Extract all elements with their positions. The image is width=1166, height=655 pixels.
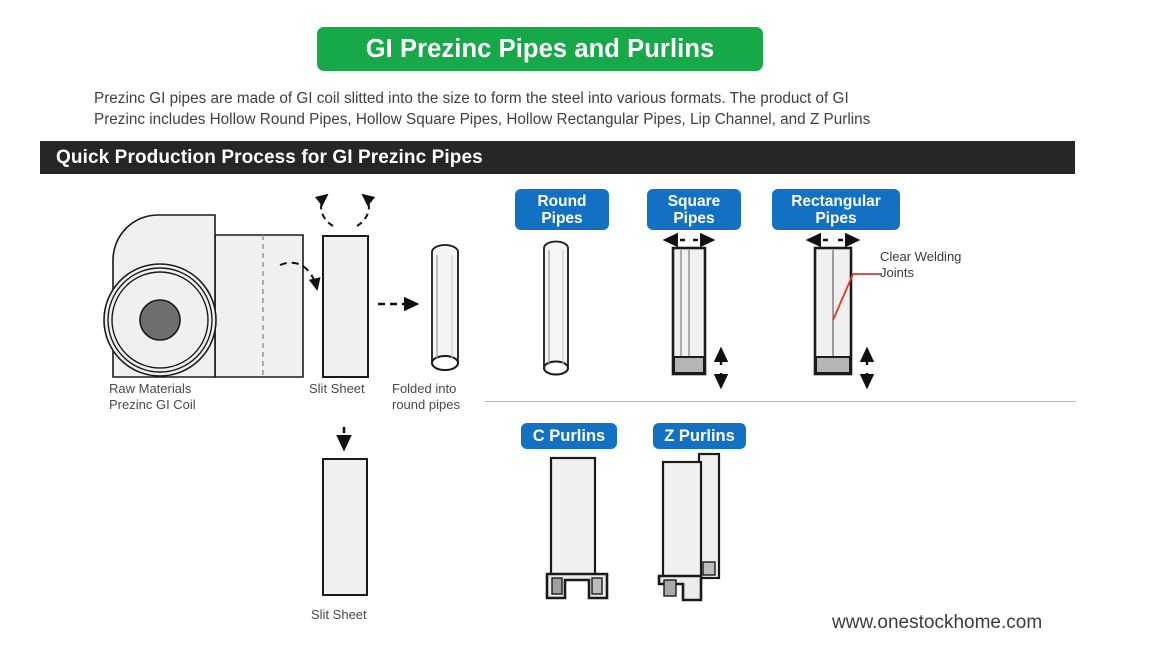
- badge-rectangular-pipes-line-1: Rectangular: [791, 193, 881, 210]
- c-purlin-lip-right: [592, 578, 602, 594]
- badge-round-pipes-line-1: Round: [537, 193, 586, 210]
- badge-round-pipes-line-2: Pipes: [541, 210, 582, 227]
- caption-folded-line-2: round pipes: [392, 397, 460, 413]
- c-purlin-shape: [525, 452, 645, 602]
- slit-sheet-bottom-shape: [323, 459, 367, 595]
- badge-c-purlins-label: C Purlins: [533, 428, 605, 445]
- round-pipe-opening: [432, 356, 458, 370]
- c-purlin-web: [551, 458, 595, 576]
- website-footer[interactable]: www.onestockhome.com: [832, 612, 1042, 634]
- caption-slit-sheet-top: Slit Sheet: [309, 381, 365, 397]
- badge-z-purlins-label: Z Purlins: [664, 428, 735, 445]
- badge-round-pipes[interactable]: Round Pipes: [515, 189, 609, 230]
- round-pipe-sample-opening: [544, 362, 568, 375]
- caption-raw-materials: Raw Materials Prezinc GI Coil: [109, 381, 196, 413]
- caption-raw-materials-line-1: Raw Materials: [109, 381, 196, 397]
- section-header-bar: Quick Production Process for GI Prezinc …: [40, 141, 1075, 174]
- square-pipe-sample: [655, 232, 770, 390]
- caption-slit-sheet-top-text: Slit Sheet: [309, 381, 365, 397]
- round-pipe-sample-body: [544, 242, 568, 375]
- clear-welding-joints-callout: Clear Welding Joints: [880, 249, 961, 281]
- caption-folded-round-pipes: Folded into round pipes: [392, 381, 460, 413]
- badge-square-pipes-line-1: Square: [668, 193, 721, 210]
- weld-callout-line-2: Joints: [880, 265, 961, 281]
- round-pipe-sample: [530, 236, 600, 386]
- badge-square-pipes-line-2: Pipes: [673, 210, 714, 227]
- z-purlin-web: [663, 462, 701, 580]
- caption-folded-line-1: Folded into: [392, 381, 460, 397]
- slit-sheet-top-shape: [323, 236, 368, 377]
- z-purlin-shape: [655, 450, 775, 605]
- production-flow-diagram: [95, 185, 495, 400]
- page-title: GI Prezinc Pipes and Purlins: [366, 35, 715, 64]
- rect-pipe-end-cap: [816, 357, 850, 373]
- arrow-form-right: [357, 195, 369, 226]
- round-pipe-body: [432, 245, 458, 370]
- title-banner: GI Prezinc Pipes and Purlins: [317, 27, 763, 71]
- intro-line-1: Prezinc GI pipes are made of GI coil sli…: [94, 88, 1084, 109]
- coil-sheet-extension: [215, 235, 303, 377]
- badge-square-pipes[interactable]: Square Pipes: [647, 189, 741, 230]
- badge-rectangular-pipes-line-2: Pipes: [815, 210, 856, 227]
- intro-line-2: Prezinc includes Hollow Round Pipes, Hol…: [94, 109, 1084, 130]
- intro-paragraph: Prezinc GI pipes are made of GI coil sli…: [94, 88, 1084, 130]
- c-purlin-lip-left: [552, 578, 562, 594]
- caption-slit-sheet-bottom: Slit Sheet: [311, 607, 367, 623]
- caption-raw-materials-line-2: Prezinc GI Coil: [109, 397, 196, 413]
- coil-hub: [140, 300, 180, 340]
- badge-c-purlins[interactable]: C Purlins: [521, 423, 617, 449]
- z-purlin-lip-bottom: [664, 580, 676, 596]
- badge-z-purlins[interactable]: Z Purlins: [653, 423, 746, 449]
- slit-sheet-bottom-diagram: [300, 425, 400, 600]
- infographic-canvas: GI Prezinc Pipes and Purlins Prezinc GI …: [0, 0, 1166, 655]
- section-divider: [485, 401, 1076, 402]
- z-purlin-lip-top: [703, 562, 715, 575]
- caption-slit-sheet-bottom-text: Slit Sheet: [311, 607, 367, 623]
- weld-callout-line-1: Clear Welding: [880, 249, 961, 265]
- section-heading: Quick Production Process for GI Prezinc …: [40, 147, 483, 169]
- badge-rectangular-pipes[interactable]: Rectangular Pipes: [772, 189, 900, 230]
- arrow-form-left: [321, 195, 333, 226]
- square-pipe-end-cap: [674, 357, 704, 373]
